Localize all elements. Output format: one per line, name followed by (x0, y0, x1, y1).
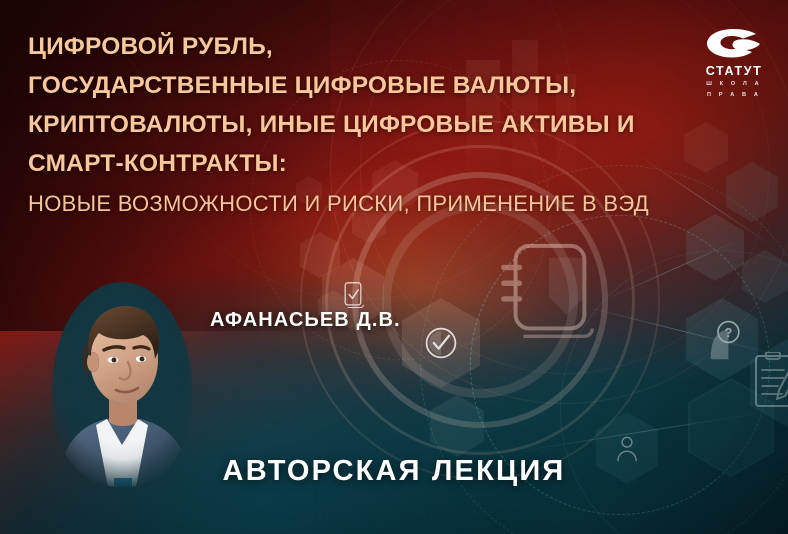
statut-swoosh-icon (704, 26, 764, 60)
brand-logo[interactable]: СТАТУТ Ш К О Л А П Р А В А (698, 26, 770, 99)
title-block: ЦИФРОВОЙ РУБЛЬ, ГОСУДАРСТВЕННЫЕ ЦИФРОВЫЕ… (28, 27, 768, 218)
brand-tagline-line-1: Ш К О Л А (698, 81, 770, 89)
speaker-name: АФАНАСЬЕВ Д.В. (210, 309, 401, 332)
title-line-1: ЦИФРОВОЙ РУБЛЬ, (28, 27, 768, 66)
subtitle: НОВЫЕ ВОЗМОЖНОСТИ И РИСКИ, ПРИМЕНЕНИЕ В … (28, 190, 768, 218)
banner-canvas: ? (0, 0, 788, 534)
title-line-2: ГОСУДАРСТВЕННЫЕ ЦИФРОВЫЕ ВАЛЮТЫ, (28, 66, 768, 105)
title-line-4: СМАРТ-КОНТРАКТЫ: (28, 144, 768, 183)
brand-tagline-line-2: П Р А В А (698, 92, 770, 100)
lecture-label: АВТОРСКАЯ ЛЕКЦИЯ (0, 455, 788, 488)
title-line-3: КРИПТОВАЛЮТЫ, ИНЫЕ ЦИФРОВЫЕ АКТИВЫ И (28, 105, 768, 144)
brand-name: СТАТУТ (698, 65, 770, 78)
